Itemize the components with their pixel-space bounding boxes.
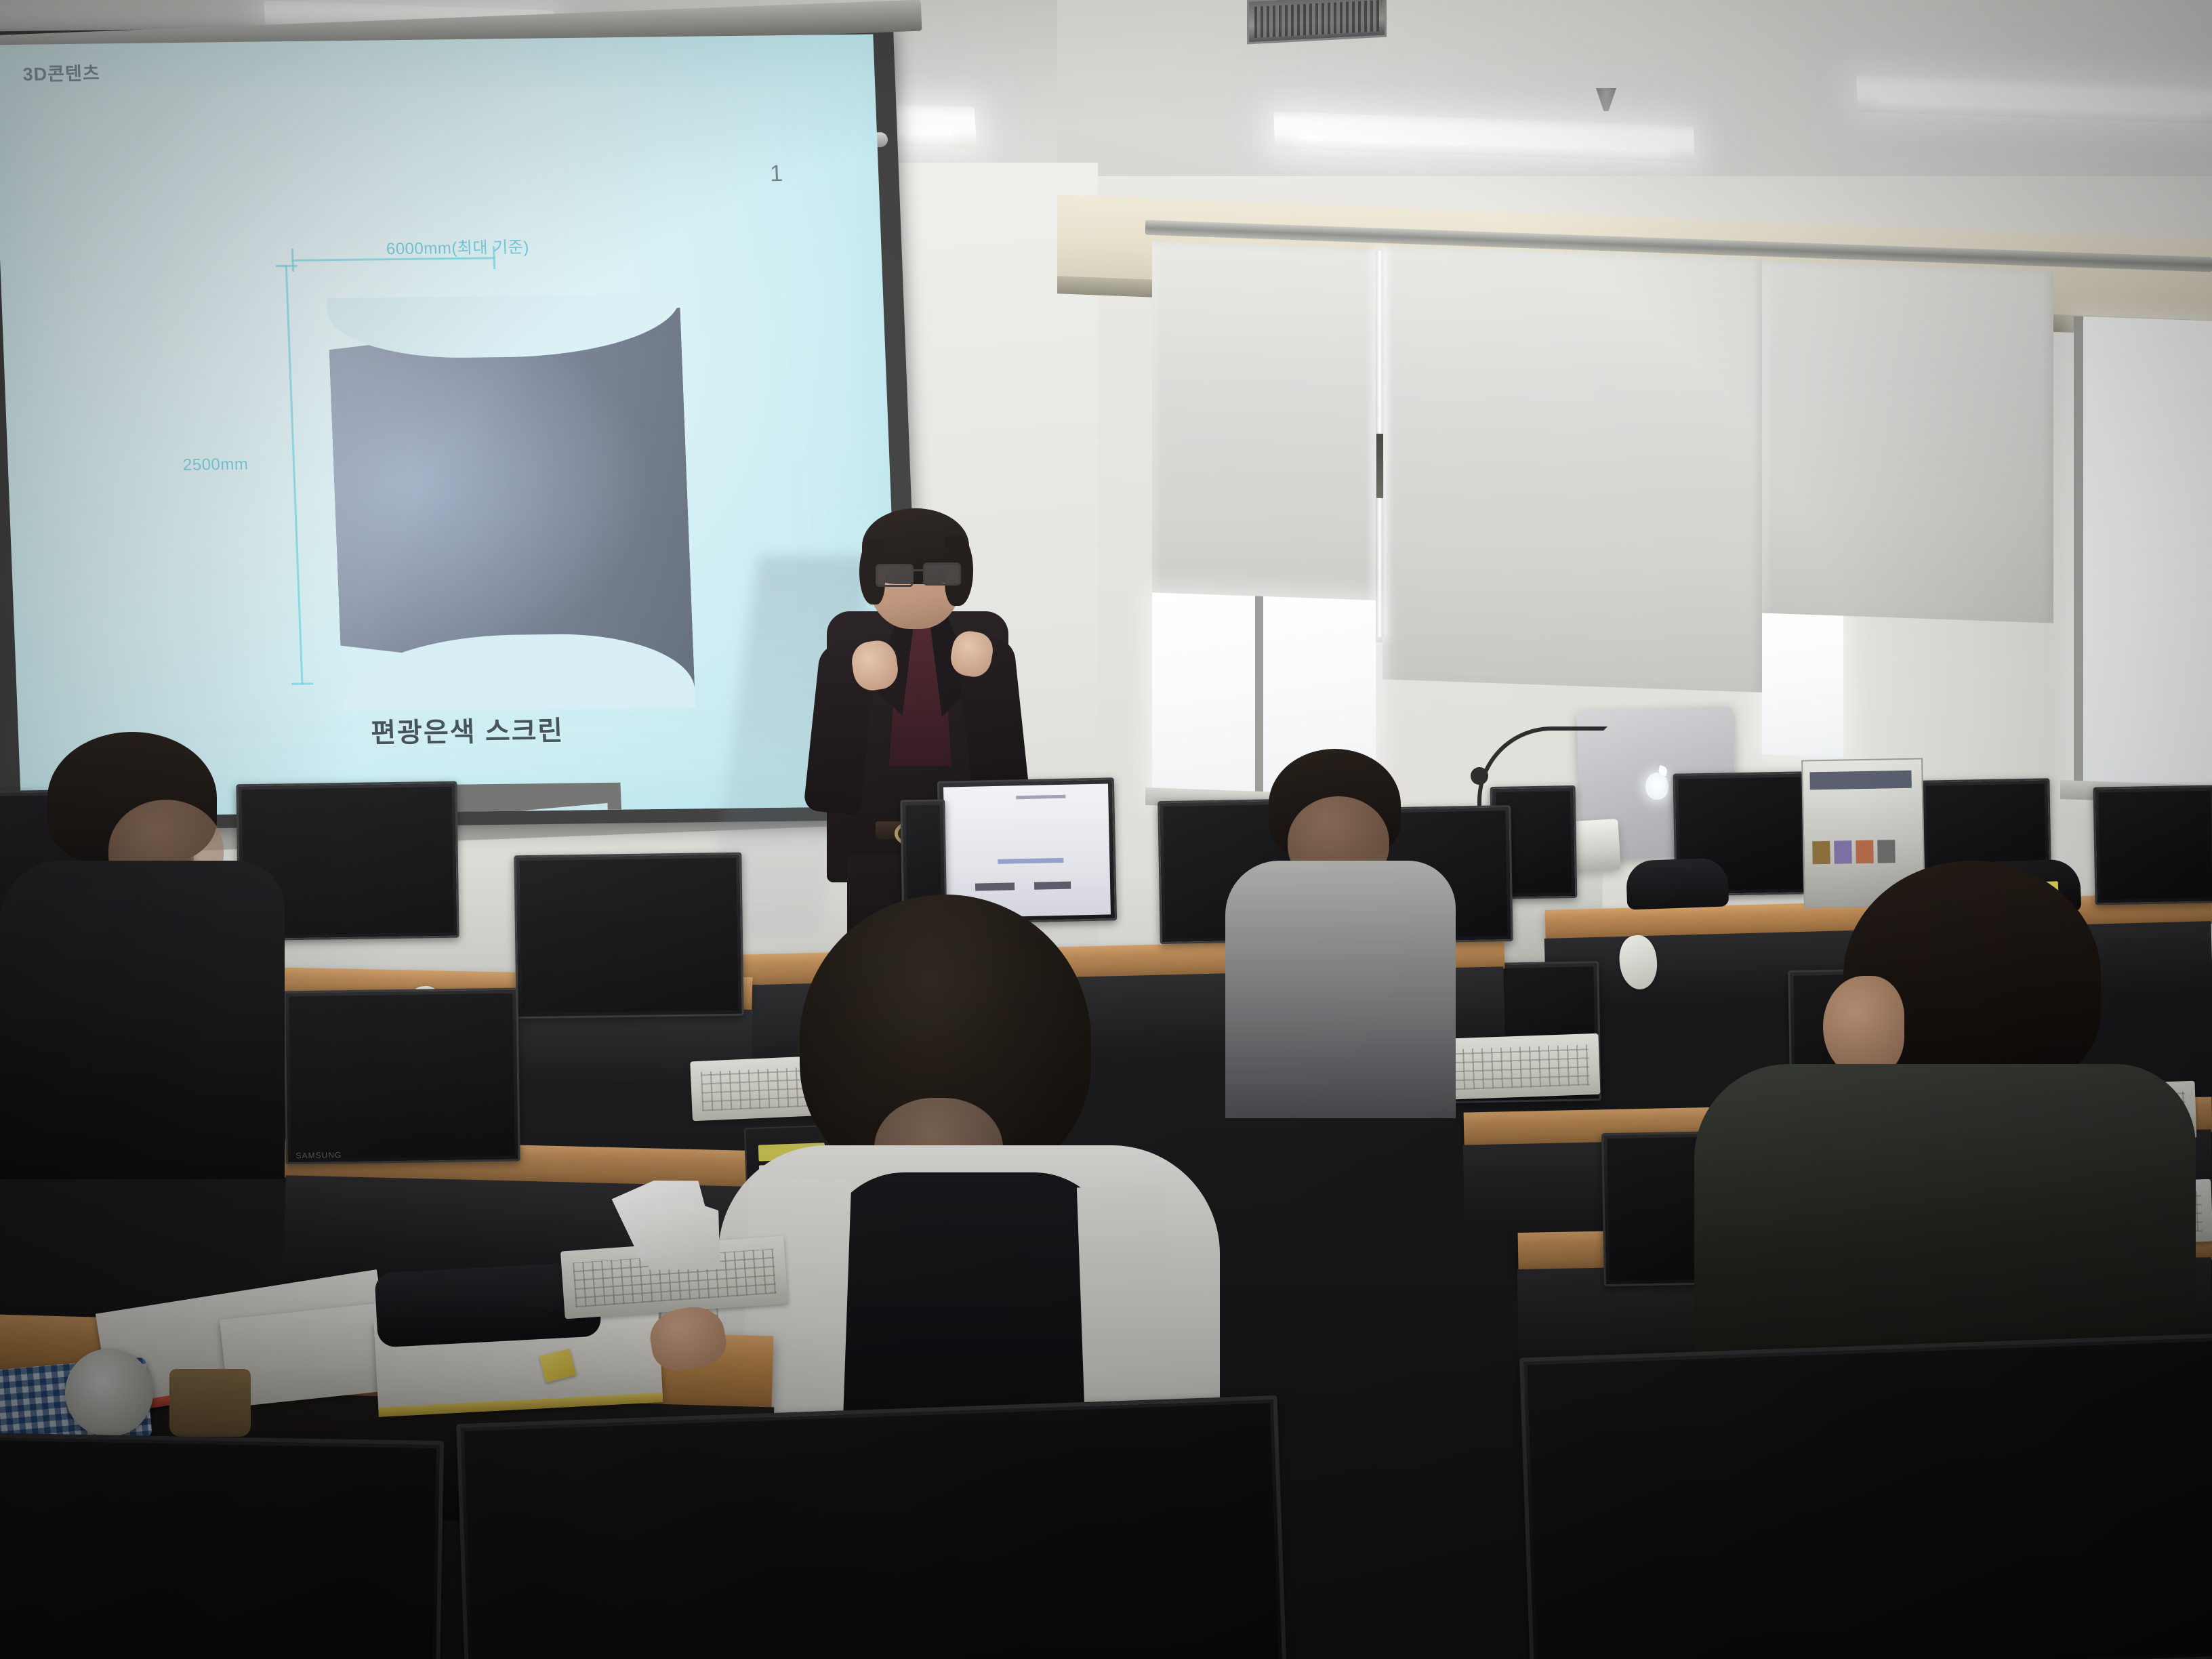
slide-header: 3D콘텐츠 xyxy=(22,58,101,85)
student-center-back xyxy=(1240,749,1464,1101)
window-far xyxy=(1762,612,1843,757)
classroom-photo-scene: 3D콘텐츠 1 6000mm(최대 기준) 2500mm 편광은색 스크린 편광… xyxy=(0,0,2212,1659)
monitor[interactable]: SAMSUNG xyxy=(283,988,520,1165)
glasses-icon xyxy=(876,564,914,587)
roller-blind[interactable] xyxy=(1762,260,2053,623)
foreground-monitor[interactable] xyxy=(456,1395,1287,1659)
curved-screen-graphic xyxy=(327,308,695,691)
blind-pull-cord[interactable] xyxy=(1376,434,1383,498)
dimension-line-vertical xyxy=(285,265,304,685)
glasses-bridge xyxy=(909,569,924,571)
roller-blind[interactable] xyxy=(1382,245,1762,693)
monitor-brand-label: SAMSUNG xyxy=(296,1150,342,1160)
slide-page-number: 1 xyxy=(769,161,783,187)
dimension-label-height: 2500mm xyxy=(182,455,248,475)
glasses-icon xyxy=(923,562,961,586)
dimension-tick xyxy=(276,265,298,267)
dimension-tick xyxy=(291,249,294,272)
dimension-label-width: 6000mm(최대 기준) xyxy=(386,234,529,260)
student-ear xyxy=(1823,976,1904,1078)
roller-blind[interactable] xyxy=(1152,241,1382,642)
student-body xyxy=(0,861,285,1179)
backpack xyxy=(1626,857,1729,909)
apple-logo-icon xyxy=(1645,772,1668,800)
slide-caption-primary: 편광은색 스크린 xyxy=(370,709,565,750)
student-left-front xyxy=(27,732,258,1166)
mug xyxy=(169,1369,251,1437)
window-right xyxy=(2074,316,2212,795)
dimension-tick xyxy=(291,682,313,684)
microphone-capsule-icon xyxy=(1471,767,1488,785)
ceiling-vent-icon xyxy=(1247,0,1387,44)
foreground-monitor-left[interactable] xyxy=(0,1433,444,1659)
foreground-monitor-right[interactable] xyxy=(1519,1333,2212,1659)
